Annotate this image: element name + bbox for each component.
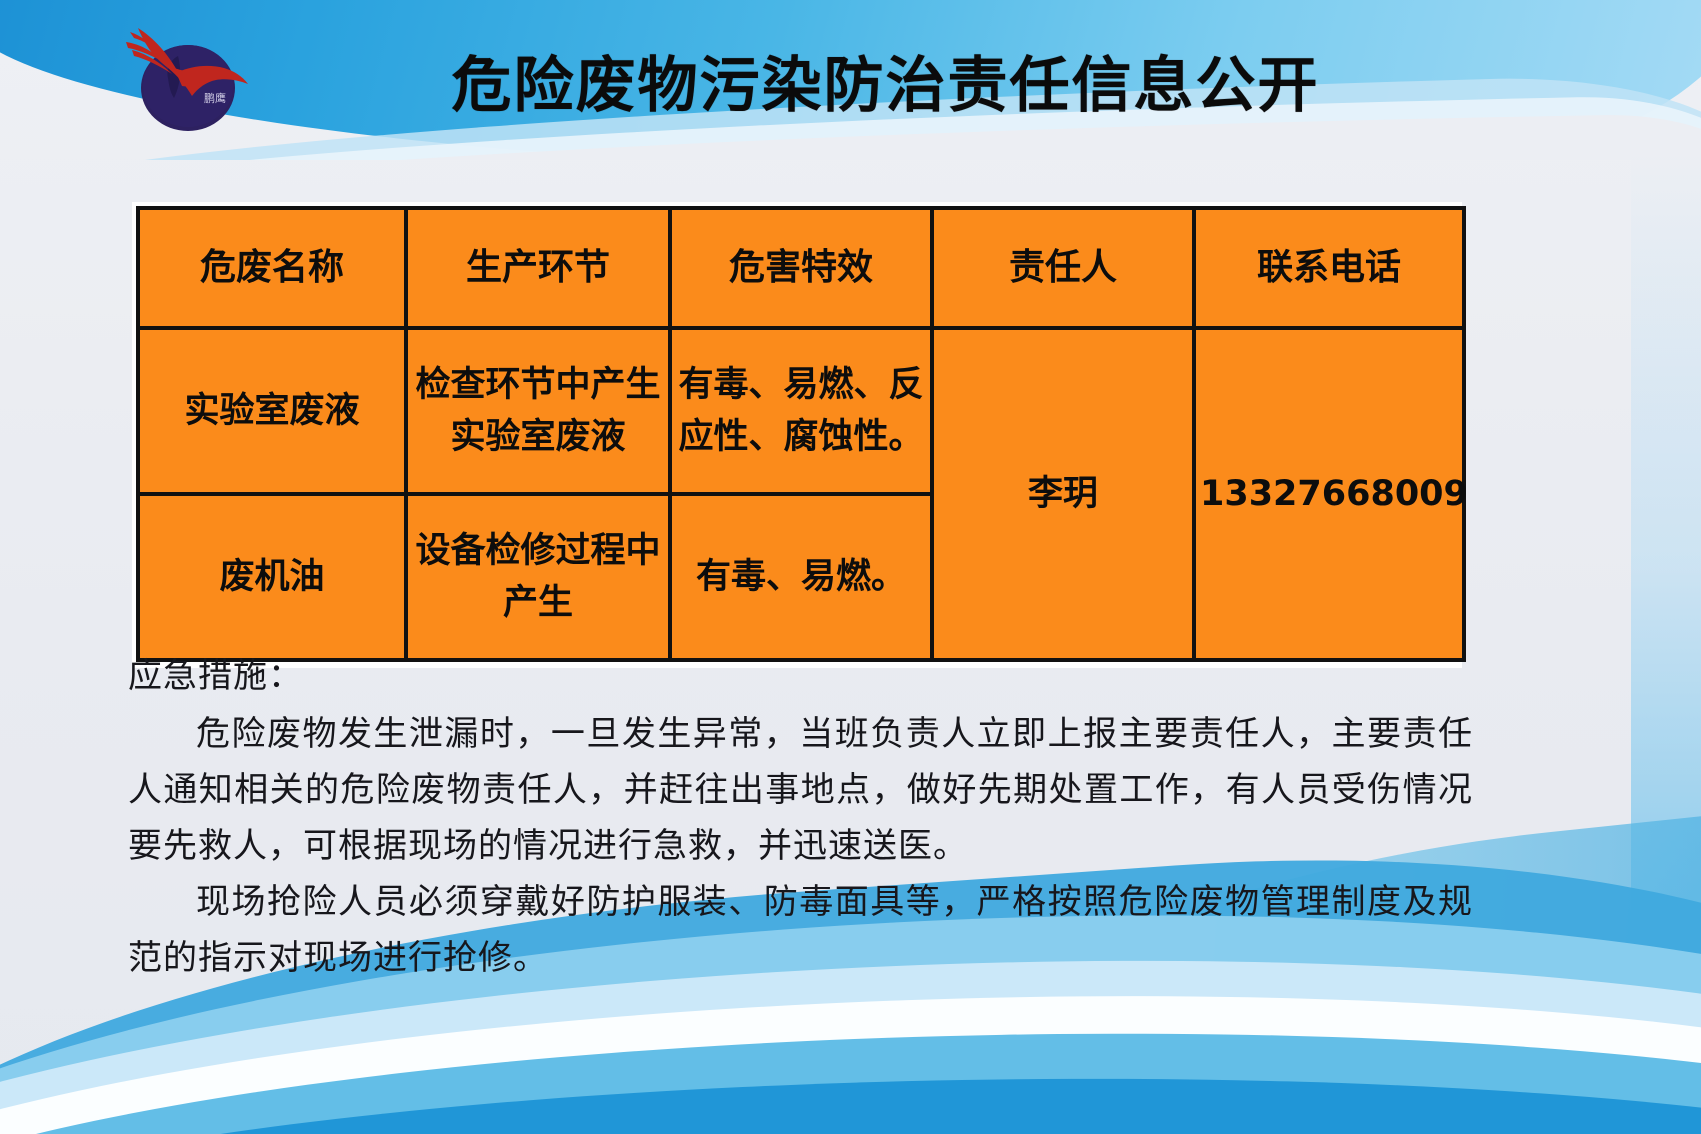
cell-production-stage-2: 设备检修过程中 产生 (406, 494, 670, 660)
hazardous-waste-table: 危废名称 生产环节 危害特效 责任人 联系电话 实验室废液 检查环节中产生 实验… (136, 206, 1466, 662)
cell-waste-name-2: 废机油 (138, 494, 406, 660)
col-header-contact-phone: 联系电话 (1194, 208, 1464, 328)
cell-production-stage-1: 检查环节中产生 实验室废液 (406, 328, 670, 494)
emergency-heading: 应急措施： (128, 648, 1473, 704)
col-header-production-stage: 生产环节 (406, 208, 670, 328)
col-header-waste-name: 危废名称 (138, 208, 406, 328)
page-title: 危险废物污染防治责任信息公开 (0, 52, 1701, 120)
emergency-measures-block: 应急措施： 危险废物发生泄漏时，一旦发生异常，当班负责人立即上报主要责任人，主要… (128, 648, 1473, 986)
col-header-responsible-person: 责任人 (932, 208, 1194, 328)
cell-stage-line-1: 检查环节中产生 (412, 359, 664, 411)
table-row: 实验室废液 检查环节中产生 实验室废液 有毒、易燃、反 应性、腐蚀性。 李玥 1… (138, 328, 1464, 494)
footer-wave-5 (0, 1006, 1701, 1134)
emergency-paragraph-2: 现场抢险人员必须穿戴好防护服装、防毒面具等，严格按照危险废物管理制度及规范的指示… (128, 874, 1473, 986)
col-header-hazard-effect: 危害特效 (670, 208, 932, 328)
slide-header: 鹏鹰 危险废物污染防治责任信息公开 (0, 0, 1701, 160)
emergency-paragraph-1: 危险废物发生泄漏时，一旦发生异常，当班负责人立即上报主要责任人，主要责任人通知相… (128, 706, 1473, 874)
cell-hazard-line-2: 应性、腐蚀性。 (676, 411, 926, 463)
footer-wave-6 (0, 1060, 1701, 1134)
cell-hazard-line-1: 有毒、易燃、反 (676, 359, 926, 411)
table-header-row: 危废名称 生产环节 危害特效 责任人 联系电话 (138, 208, 1464, 328)
right-edge-gradient (1631, 150, 1701, 910)
cell-hazard-effect-1: 有毒、易燃、反 应性、腐蚀性。 (670, 328, 932, 494)
cell-hazard-effect-2: 有毒、易燃。 (670, 494, 932, 660)
cell-stage-line-2: 实验室废液 (412, 411, 664, 463)
cell-responsible-person: 李玥 (932, 328, 1194, 660)
cell-waste-name-1: 实验室废液 (138, 328, 406, 494)
cell-contact-phone: 13327668009 (1194, 328, 1464, 660)
hazardous-waste-table-wrap: 危废名称 生产环节 危害特效 责任人 联系电话 实验室废液 检查环节中产生 实验… (132, 202, 1462, 668)
cell-stage-line-1: 设备检修过程中 (412, 525, 664, 577)
cell-stage-line-2: 产生 (412, 577, 664, 629)
slide-canvas: 鹏鹰 危险废物污染防治责任信息公开 危废名称 生产环节 危害特效 责任人 联系电… (0, 0, 1701, 1134)
